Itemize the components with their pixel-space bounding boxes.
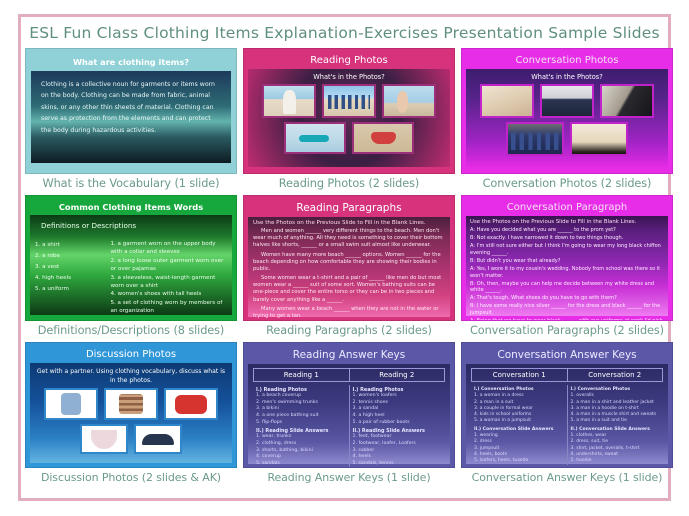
dialogue-line: B: Not exactly. I have narrowed it down … <box>470 235 664 242</box>
red-tshirt-photo <box>164 388 218 420</box>
slide-body: Conversation 1 Conversation 2 I.) Conver… <box>466 364 668 464</box>
paragraph: Many women wear a beach ______ when they… <box>253 306 445 320</box>
answer-item: 2. clothing, dress <box>256 441 346 448</box>
caption-conversation-photos: Conversation Photos (2 slides) <box>461 174 673 195</box>
caption-reading-answer-keys: Reading Answer Keys (1 slide) <box>243 468 455 489</box>
page-root: ESL Fun Class Clothing Items Explanation… <box>0 0 689 516</box>
slide-cell-definitions[interactable]: Common Clothing Items Words Definitions … <box>25 195 237 342</box>
caption-definitions: Definitions/Descriptions (8 slides) <box>25 321 237 342</box>
beach-group-photo <box>322 84 376 118</box>
list-item: 3. a vest <box>35 262 106 273</box>
column-header: Reading 1 <box>254 369 350 381</box>
answer-key-column: I.) Conversation Photos 1. a woman in a … <box>471 385 568 465</box>
answer-key-column: I.) Conversation Photos 1. overalls 2. a… <box>568 385 664 465</box>
answer-item: 5. hoodie <box>571 458 661 464</box>
paragraph: Some women wear a t-shirt and a pair of … <box>253 275 445 304</box>
slide-header: Conversation Answer Keys <box>466 347 668 364</box>
slide-cell-vocabulary[interactable]: What are clothing items? Clothing is a c… <box>25 48 237 195</box>
slides-row-1: What are clothing items? Clothing is a c… <box>25 48 664 195</box>
couple-dance-photo <box>600 84 654 118</box>
slide-header: Conversation Photos <box>466 53 668 69</box>
answer-key-column: I.) Reading Photos 1. a beach coverup 2.… <box>253 385 350 468</box>
answer-item: 5. flip-flops <box>256 420 346 427</box>
dialogue-line: A: Being that we have to wear black ____… <box>470 318 664 321</box>
pool-swimsuit-photo <box>284 122 346 154</box>
caption-reading-paragraphs: Reading Paragraphs (2 slides) <box>243 321 455 342</box>
answer-key-columns: I.) Conversation Photos 1. a woman in a … <box>471 385 663 465</box>
list-item: 3. a sleeveless, waist-length garment wo… <box>110 274 227 291</box>
paragraph: Women have many more beach ______ option… <box>253 252 445 274</box>
slide-reading-paragraphs[interactable]: Reading Paragraphs Use the Photos on the… <box>243 195 455 321</box>
slides-grid: What are clothing items? Clothing is a c… <box>21 48 668 489</box>
slide-subtitle: Get with a partner. Using clothing vocab… <box>36 367 226 385</box>
dialogue-line: A: That's tough. What shoes do you have … <box>470 295 664 302</box>
column-header: Conversation 1 <box>472 369 568 381</box>
dialogue-line: A: I'm still not sure either but I think… <box>470 243 664 256</box>
photo-row-2 <box>472 122 662 156</box>
answer-key-column-headers: Reading 1 Reading 2 <box>253 368 445 382</box>
answer-item: 4. a high heel <box>353 413 443 420</box>
slide-body: What's in the Photos? <box>466 69 668 167</box>
answer-item: 1. women's loafers <box>353 393 443 400</box>
slide-cell-discussion-photos[interactable]: Discussion Photos Get with a partner. Us… <box>25 342 237 489</box>
slide-cell-reading-photos[interactable]: Reading Photos What's in the Photos? <box>243 48 455 195</box>
answer-item: 5. a man in a suit and tie <box>571 418 661 424</box>
slide-cell-conversation-photos[interactable]: Conversation Photos What's in the Photos… <box>461 48 673 195</box>
dialogue-line: A: Have you decided what you are ______ … <box>470 227 664 234</box>
jeans-photo <box>44 388 98 420</box>
answer-item: 3. a sandal <box>353 406 443 413</box>
answer-key-column: I.) Reading Photos 1. women's loafers 2.… <box>350 385 446 468</box>
slide-header: Common Clothing Items Words <box>30 200 232 215</box>
answer-item: 5. sandals, tennis <box>353 461 443 468</box>
list-item: 2. a long loose outer garment worn over … <box>110 257 227 274</box>
caption-vocabulary: What is the Vocabulary (1 slide) <box>25 174 237 195</box>
slide-conversation-paragraph[interactable]: Conversation Paragraph Use the Photos on… <box>461 195 673 321</box>
answer-item: 2. a man in a shirt and leather jacket <box>571 400 661 406</box>
photo-row-1 <box>254 84 444 118</box>
answer-item: 2. footwear, loafer, Loafers <box>353 441 443 448</box>
answer-key-columns: I.) Reading Photos 1. a beach coverup 2.… <box>253 385 445 468</box>
slide-body: Clothing is a collective noun for garmen… <box>31 71 231 163</box>
poster-frame: ESL Fun Class Clothing Items Explanation… <box>18 14 671 501</box>
slide-reading-photos[interactable]: Reading Photos What's in the Photos? <box>243 48 455 174</box>
list-item: 1. a garment worn on the upper body with… <box>110 240 227 257</box>
slide-discussion-photos[interactable]: Discussion Photos Get with a partner. Us… <box>25 342 237 468</box>
baseball-cap-photo <box>134 424 182 454</box>
definitions-columns: 1. a shirt 2. a robe 3. a vest 4. high h… <box>35 240 227 316</box>
slide-header: Reading Answer Keys <box>248 347 450 364</box>
slide-cell-reading-answer-keys[interactable]: Reading Answer Keys Reading 1 Reading 2 … <box>243 342 455 489</box>
answer-key-column-headers: Conversation 1 Conversation 2 <box>471 368 663 382</box>
page-title: ESL Fun Class Clothing Items Explanation… <box>21 17 668 48</box>
slide-reading-answer-keys[interactable]: Reading Answer Keys Reading 1 Reading 2 … <box>243 342 455 468</box>
slide-body: Get with a partner. Using clothing vocab… <box>30 363 232 463</box>
photo-row-1 <box>36 388 226 420</box>
photo-row-1 <box>472 84 662 118</box>
words-list: 1. a shirt 2. a robe 3. a vest 4. high h… <box>35 240 106 316</box>
slide-vocabulary[interactable]: What are clothing items? Clothing is a c… <box>25 48 237 174</box>
slide-cell-conversation-paragraph[interactable]: Conversation Paragraph Use the Photos on… <box>461 195 673 342</box>
slide-body: What's in the Photos? <box>248 69 450 167</box>
list-item: 5. a uniform <box>35 284 106 295</box>
slide-body: Reading 1 Reading 2 I.) Reading Photos 1… <box>248 364 450 464</box>
dialogue-line: B: I have some really nice silver ______… <box>470 303 664 316</box>
photo-row-2 <box>254 122 444 154</box>
slide-cell-conversation-answer-keys[interactable]: Conversation Answer Keys Conversation 1 … <box>461 342 673 489</box>
list-item: 5. a set of clothing worn by members of … <box>110 299 227 316</box>
slide-definitions[interactable]: Common Clothing Items Words Definitions … <box>25 195 237 321</box>
answer-item: 1. a beach coverup <box>256 393 346 400</box>
bride-dress-photo <box>480 84 534 118</box>
slides-row-3: Discussion Photos Get with a partner. Us… <box>25 342 664 489</box>
list-item: 2. a robe <box>35 251 106 262</box>
slide-conversation-answer-keys[interactable]: Conversation Answer Keys Conversation 1 … <box>461 342 673 468</box>
slide-subtitle: What's in the Photos? <box>254 73 444 81</box>
caption-conversation-answer-keys: Conversation Answer Keys (1 slide) <box>461 468 673 489</box>
slide-body: Use the Photos on the Previous Slide to … <box>466 216 668 316</box>
answer-item: 5. a woman in a jumpsuit <box>474 418 564 424</box>
answer-item: 3. a bikini <box>256 406 346 413</box>
floral-skirt-photo <box>80 424 128 454</box>
paragraph: Men and women ______ very different thin… <box>253 228 445 250</box>
school-uniform-photo <box>506 122 564 156</box>
column-header: Conversation 2 <box>568 369 663 381</box>
slide-header: Conversation Paragraph <box>466 200 668 216</box>
socks-photo <box>104 388 158 420</box>
dialogue-line: B: But didn't you wear that already? <box>470 258 664 265</box>
definitions-list: 1. a garment worn on the upper body with… <box>110 240 227 316</box>
slide-body: Use the Photos on the Previous Slide to … <box>248 217 450 317</box>
slide-subtitle: Definitions or Descriptions <box>35 219 227 232</box>
photo-row-2 <box>36 424 226 454</box>
answer-item: 5. sandals <box>256 461 346 468</box>
beach-stretch-photo <box>382 84 436 118</box>
slide-header: Discussion Photos <box>30 347 232 363</box>
caption-conversation-paragraphs: Conversation Paragraphs (2 slides) <box>461 321 673 342</box>
wedding-gown-photo <box>570 122 628 156</box>
list-item: 4. women's shoes with tall heels <box>110 290 227 298</box>
list-item: 1. a shirt <box>35 240 106 251</box>
dialogue-line: B: Oh, then, maybe you can help me decid… <box>470 281 664 294</box>
answer-item: 4. a one piece bathing suit <box>256 413 346 420</box>
slide-conversation-photos[interactable]: Conversation Photos What's in the Photos… <box>461 48 673 174</box>
slide-instruction: Use the Photos on the Previous Slide to … <box>470 219 664 225</box>
slide-header: Reading Paragraphs <box>248 200 450 217</box>
column-header: Reading 2 <box>350 369 445 381</box>
answer-item: 5. loafers, heels, tuxedo <box>474 458 564 464</box>
dialogue-line: A: Yes, I wore it to my cousin's wedding… <box>470 266 664 279</box>
slide-subtitle: What's in the Photos? <box>472 73 662 81</box>
list-item: 4. high heels <box>35 273 106 284</box>
beach-woman-photo <box>262 84 316 118</box>
answer-item: 5. a pair of rubber boots <box>353 420 443 427</box>
slide-cell-reading-paragraphs[interactable]: Reading Paragraphs Use the Photos on the… <box>243 195 455 342</box>
caption-reading-photos: Reading Photos (2 slides) <box>243 174 455 195</box>
slide-body: Definitions or Descriptions 1. a shirt 2… <box>30 215 232 315</box>
caption-discussion-photos: Discussion Photos (2 slides & AK) <box>25 468 237 489</box>
sand-flipflops-photo <box>352 122 414 154</box>
slide-header: What are clothing items? <box>31 54 231 71</box>
slide-instruction: Use the Photos on the Previous Slide to … <box>253 220 445 226</box>
man-suit-photo <box>540 84 594 118</box>
slide-header: Reading Photos <box>248 53 450 69</box>
vocabulary-paragraph: Clothing is a collective noun for garmen… <box>41 79 221 136</box>
slides-row-2: Common Clothing Items Words Definitions … <box>25 195 664 342</box>
